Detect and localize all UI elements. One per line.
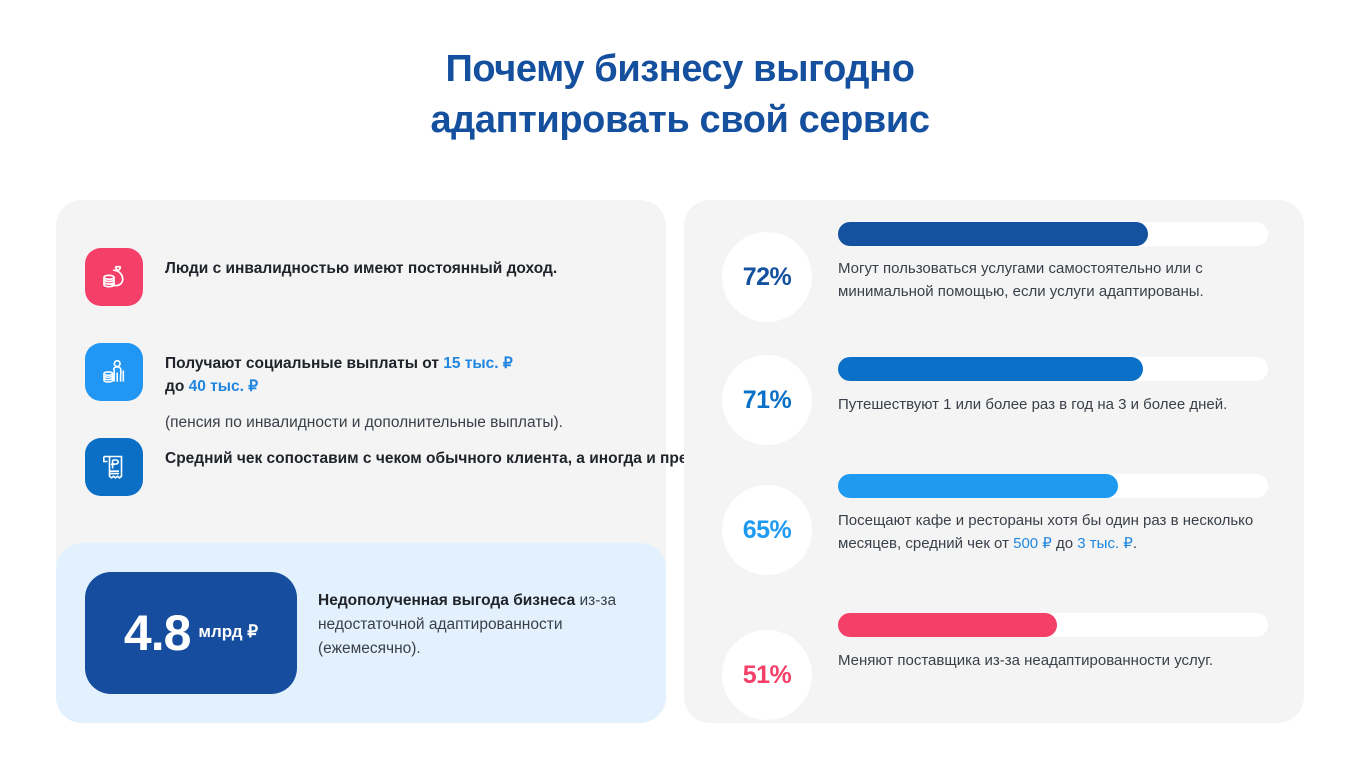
stat-percent-badge: 71%: [722, 355, 812, 445]
stat-percent-badge: 51%: [722, 630, 812, 720]
page-title: Почему бизнесу выгодно адаптировать свой…: [0, 44, 1360, 145]
stat-text-b: до: [1052, 535, 1077, 552]
stat-bar-track: [838, 357, 1268, 381]
feature-text-mid: до: [165, 378, 189, 395]
stat-description: Могут пользоваться услугами самостоятель…: [838, 258, 1270, 304]
stat-description: Путешествуют 1 или более раз в год на 3 …: [838, 394, 1278, 417]
feature-item-social-payments: Получают социальные выплаты от 15 тыс. ₽…: [85, 343, 563, 434]
feature-subnote: (пенсия по инвалидности и дополнительные…: [165, 411, 563, 434]
lost-revenue-description: Недополученная выгода бизнеса из-за недо…: [318, 589, 648, 661]
stat-bar-fill: [838, 474, 1118, 498]
feature-item-average-check: Средний чек сопоставим с чеком обычного …: [85, 438, 781, 496]
infographic-stage: Почему бизнесу выгодно адаптировать свой…: [0, 0, 1360, 765]
lost-revenue-unit: млрд ₽: [198, 622, 258, 644]
stat-bar-fill: [838, 613, 1057, 637]
lost-revenue-bold: Недополученная выгода бизнеса: [318, 592, 575, 609]
lost-revenue-badge: 4.8 млрд ₽: [85, 572, 297, 694]
stat-percent-badge: 65%: [722, 485, 812, 575]
stat-text-c: .: [1133, 535, 1137, 552]
stat-percent-badge: 72%: [722, 232, 812, 322]
stat-bar-track: [838, 474, 1268, 498]
stat-bar-track: [838, 613, 1268, 637]
receipt-ruble-icon: [85, 438, 143, 496]
stat-accent-amount-2: 3 тыс. ₽: [1077, 535, 1133, 552]
page-title-line-2: адаптировать свой сервис: [0, 95, 1360, 146]
stat-description: Меняют поставщика из-за неадаптированнос…: [838, 650, 1278, 673]
stat-description: Посещают кафе и рестораны хотя бы один р…: [838, 510, 1274, 556]
feature-item-income: Люди с инвалидностью имеют постоянный до…: [85, 248, 557, 306]
lost-revenue-number: 4.8: [124, 608, 191, 658]
feature-item-text: Получают социальные выплаты от 15 тыс. ₽…: [165, 343, 563, 434]
page-title-line-1: Почему бизнесу выгодно: [0, 44, 1360, 95]
feature-accent-amount-2: 40 тыс. ₽: [189, 378, 258, 395]
stat-bar-fill: [838, 357, 1143, 381]
money-bag-coins-icon: [85, 248, 143, 306]
stat-bar-track: [838, 222, 1268, 246]
feature-item-text: Люди с инвалидностью имеют постоянный до…: [165, 248, 557, 280]
stat-accent-amount-1: 500 ₽: [1013, 535, 1052, 552]
highlight-lost-revenue: 4.8 млрд ₽ Недополученная выгода бизнеса…: [56, 543, 666, 723]
person-with-cane-coins-icon: [85, 343, 143, 401]
feature-accent-amount-1: 15 тыс. ₽: [443, 355, 512, 372]
feature-text-lead: Получают социальные выплаты от: [165, 355, 443, 372]
stat-bar-fill: [838, 222, 1148, 246]
